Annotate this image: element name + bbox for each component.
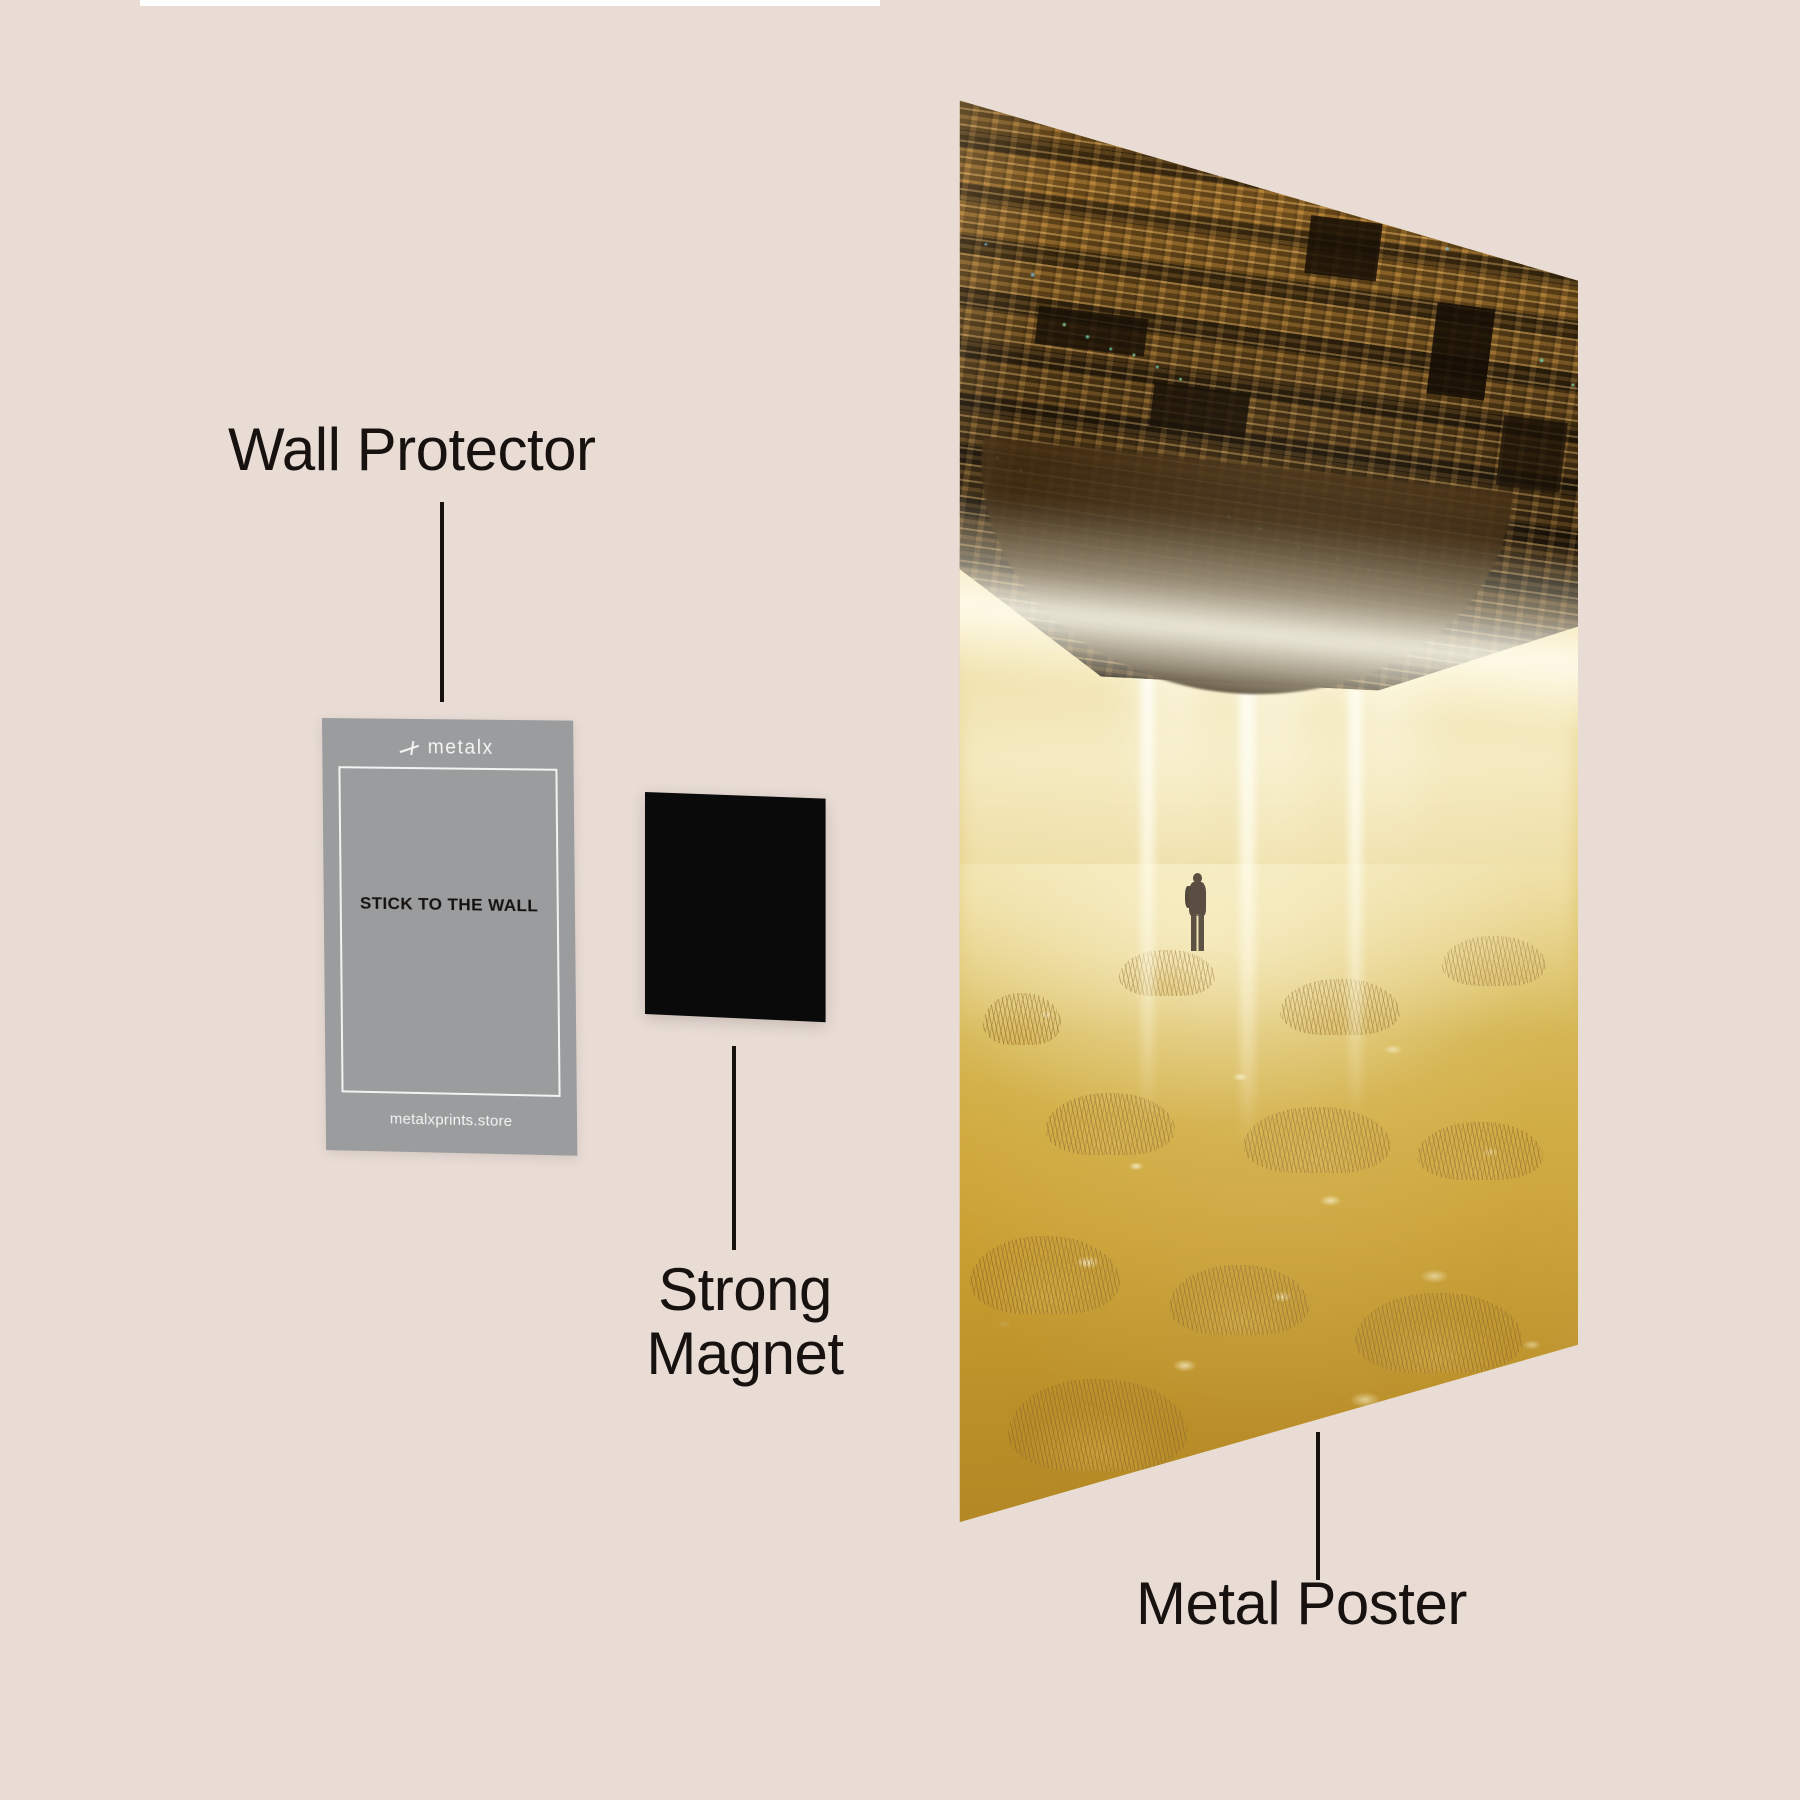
card-headline: STICK TO THE WALL [324, 893, 575, 917]
wall-protector-card: metalx STICK TO THE WALL metalxprints.st… [322, 718, 577, 1156]
metalx-brand-name: metalx [428, 736, 494, 760]
metal-poster-artwork [958, 92, 1578, 1522]
figure-legs [1191, 914, 1204, 951]
metalx-logo: metalx [322, 735, 573, 761]
leader-line-metal-poster [1316, 1432, 1320, 1580]
strong-magnet-panel [645, 792, 826, 1022]
leader-line-strong-magnet [732, 1046, 736, 1250]
infographic-canvas: metalx STICK TO THE WALL metalxprints.st… [0, 0, 1800, 1800]
leader-line-wall-protector [440, 502, 444, 702]
brush-clump [1355, 1293, 1523, 1373]
card-inner-frame [338, 766, 560, 1097]
card-website: metalxprints.store [326, 1109, 577, 1132]
figure-torso [1189, 882, 1206, 916]
callout-label-strong-magnet: Strong Magnet [620, 1258, 870, 1385]
callout-label-metal-poster: Metal Poster [1136, 1572, 1467, 1636]
top-edge-strip [140, 0, 880, 6]
metalx-logo-icon [399, 739, 419, 755]
brush-clump [1268, 1422, 1458, 1508]
silhouette-figure [1184, 873, 1210, 951]
callout-label-wall-protector: Wall Protector [228, 418, 596, 482]
